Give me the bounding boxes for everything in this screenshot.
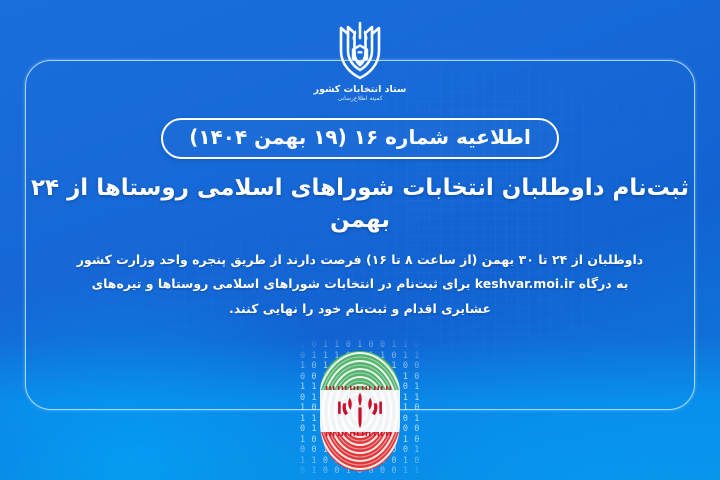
logo-caption-sub: کمیته اطلاع‌رسانی <box>314 96 407 102</box>
notice-banner-row: اطلاعیه شماره ۱۶ (۱۹ بهمن ۱۴۰۴) <box>0 118 720 159</box>
body-paragraph: داوطلبان از ۲۴ تا ۳۰ بهمن (از ساعت ۸ تا … <box>36 248 684 321</box>
poster-canvas: ستاد انتخابات کشور کمیته اطلاع‌رسانی اطل… <box>0 0 720 480</box>
notice-number-pill: اطلاعیه شماره ۱۶ (۱۹ بهمن ۱۴۰۴) <box>161 118 559 159</box>
body-line-2: به درگاه keshvar.moi.ir برای ثبت‌نام در … <box>36 272 684 296</box>
logo-caption-main: ستاد انتخابات کشور <box>314 85 407 95</box>
fingerprint-emblem-block: 1 0 1 1 0 1 0 0 1 1 0 0 1 1 1 0 0 1 1 0 … <box>275 340 445 480</box>
body-line-3: عشایری اقدام و ثبت‌نام خود را نهایی کنند… <box>36 297 684 321</box>
header-logo-block: ستاد انتخابات کشور کمیته اطلاع‌رسانی <box>0 18 720 102</box>
logo-caption: ستاد انتخابات کشور کمیته اطلاع‌رسانی <box>314 85 407 102</box>
page-title: ثبت‌نام داوطلبان انتخابات شوراهای اسلامی… <box>30 172 690 236</box>
iran-election-headquarters-ballot-shield-icon <box>328 18 392 82</box>
body-line-1: داوطلبان از ۲۴ تا ۳۰ بهمن (از ساعت ۸ تا … <box>36 248 684 272</box>
